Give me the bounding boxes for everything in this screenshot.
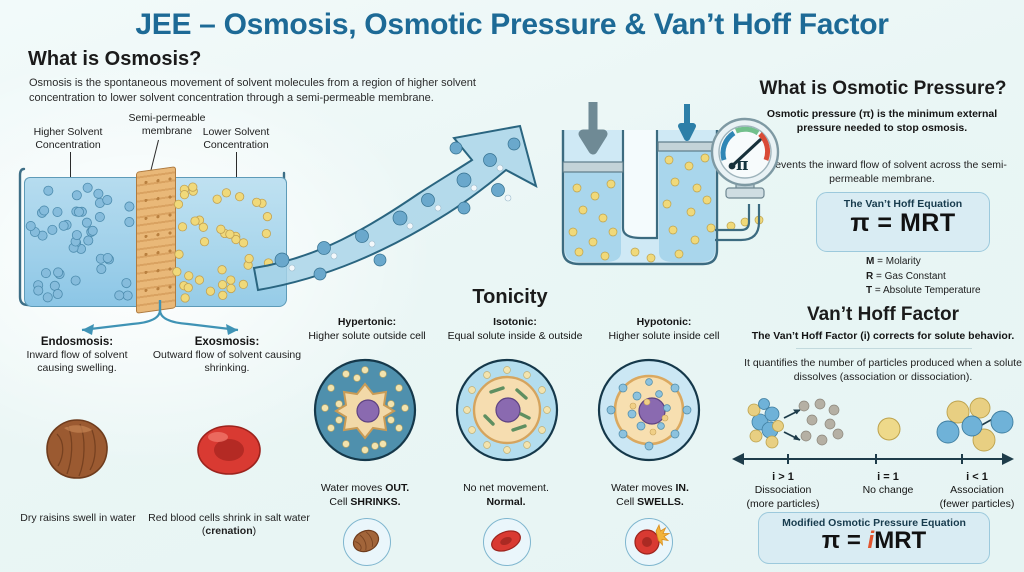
modified-equation: π = iMRT — [759, 527, 989, 555]
axis-label-no-change: i = 1 No change — [840, 470, 936, 498]
axis-label-dissociation: i > 1 Dissociation (more particles) — [724, 470, 842, 512]
tonicity-column-3-header: Hypotonic: Higher solute inside cell — [594, 316, 734, 343]
infographic-canvas: JEE – Osmosis, Osmotic Pressure & Van’t … — [0, 0, 1024, 572]
raisin-caption: Dry raisins swell in water — [8, 512, 148, 525]
tonicity-column-2-header: Isotonic: Equal solute inside & outside — [436, 316, 594, 343]
osmosis-beaker-diagram — [18, 165, 288, 305]
modified-equation-box: Modified Osmotic Pressure Equation π = i… — [758, 512, 990, 564]
osmosis-heading: What is Osmosis? — [28, 48, 201, 71]
vant-hoff-equation-box: The Van’t Hoff Equation π = MRT — [816, 192, 990, 252]
isotonic-caption: No net movement.Normal. — [440, 482, 572, 510]
osmotic-pressure-paragraph-1: Osmotic pressure (π) is the minimum exte… — [748, 108, 1016, 136]
pressure-arrow-right — [681, 104, 693, 138]
isotonic-cell-diagram — [455, 358, 559, 462]
page-title: JEE – Osmosis, Osmotic Pressure & Van’t … — [0, 8, 1024, 42]
red-blood-cell-icon — [196, 424, 262, 476]
hypotonic-caption: Water moves IN.Cell SWELLS. — [586, 482, 714, 510]
exosmosis-description: Outward flow of solvent causing shrinkin… — [152, 349, 302, 376]
osmotic-pressure-paragraph-2: It prevents the inward flow of solvent a… — [744, 158, 1020, 186]
legend-item-M: M = Molarity — [866, 255, 981, 270]
solvent-flow-arrow — [258, 108, 554, 293]
hypotonic-cell-diagram — [597, 358, 701, 462]
hypertonic-cell-diagram — [313, 358, 417, 462]
osmosis-description: Osmosis is the spontaneous movement of s… — [29, 76, 489, 106]
tonicity-heading: Tonicity — [340, 286, 680, 309]
axis-label-association: i < 1 Association (fewer particles) — [930, 470, 1024, 512]
no-change-illustration — [872, 412, 906, 446]
endosmosis-description: Inward flow of solvent causing swelling. — [8, 349, 146, 376]
exosmosis-title: Exosmosis: — [152, 336, 302, 348]
vant-hoff-factor-heading: Van’t Hoff Factor — [742, 304, 1024, 326]
dissociation-illustration — [742, 396, 862, 454]
legend-item-T: T = Absolute Temperature — [866, 284, 981, 299]
bursting-cell-icon — [625, 518, 673, 566]
association-illustration — [936, 396, 1018, 454]
vant-hoff-equation-legend: M = Molarity R = Gas Constant T = Absolu… — [866, 255, 981, 299]
divider — [796, 348, 972, 349]
raisin-icon — [44, 418, 110, 480]
pressure-gauge-icon: π — [706, 116, 784, 202]
vant-hoff-axis — [730, 452, 1016, 466]
pressure-arrow-left — [583, 102, 603, 150]
vant-hoff-factor-subheading: The Van’t Hoff Factor (i) corrects for s… — [736, 330, 1024, 342]
osmotic-pressure-heading: What is Osmotic Pressure? — [742, 78, 1024, 100]
vant-hoff-equation: π = MRT — [817, 209, 989, 238]
shrunken-cell-icon — [343, 518, 391, 566]
tonicity-column-1-header: Hypertonic: Higher solute outside cell — [296, 316, 438, 343]
label-higher-solvent: Higher Solvent Concentration — [16, 126, 120, 152]
svg-text:π: π — [736, 155, 748, 175]
endosmosis-title: Endosmosis: — [8, 336, 146, 348]
beaker-particles — [18, 165, 288, 307]
exosmosis-block: Exosmosis: Outward flow of solvent causi… — [152, 336, 302, 376]
endosmosis-block: Endosmosis: Inward flow of solvent causi… — [8, 336, 146, 376]
hypertonic-caption: Water moves OUT.Cell SHRINKS. — [300, 482, 430, 510]
rbc-caption: Red blood cells shrink in salt water (cr… — [148, 512, 310, 539]
vant-hoff-factor-paragraph: It quantifies the number of particles pr… — [738, 356, 1024, 384]
normal-cell-icon — [483, 518, 531, 566]
legend-item-R: R = Gas Constant — [866, 270, 981, 285]
